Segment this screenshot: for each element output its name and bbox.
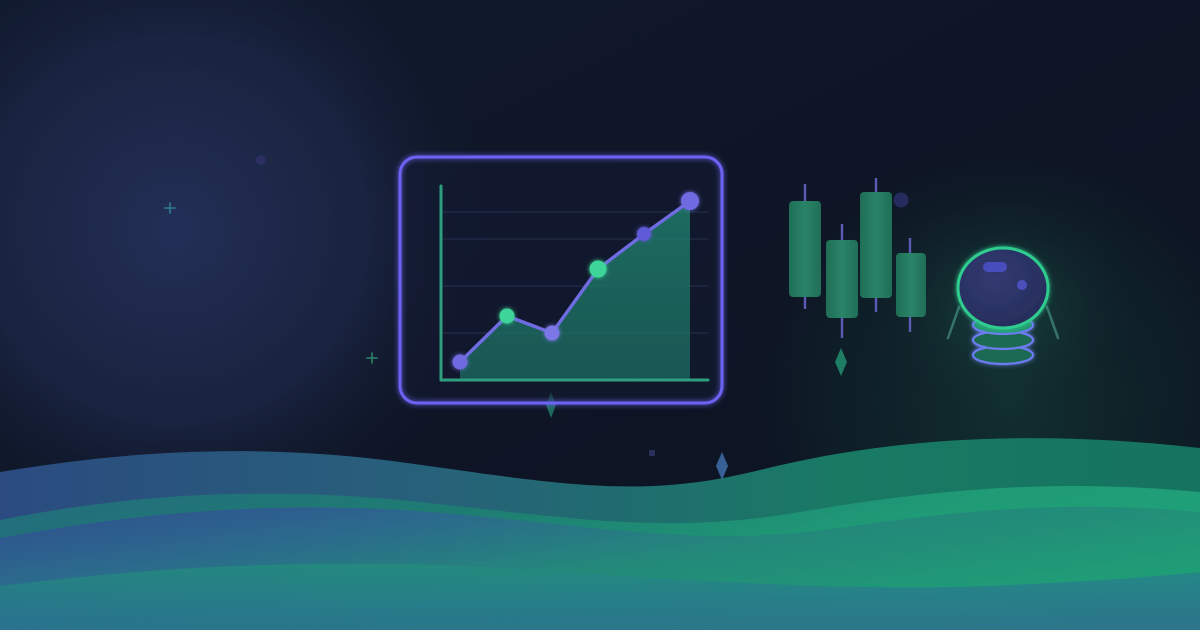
lamp-highlight-pill	[983, 262, 1007, 272]
hero-illustration-canvas: Trading analytics hero illustration Dark…	[0, 0, 1200, 630]
lamp-leg-left	[948, 307, 959, 338]
lamp-globe[interactable]	[958, 248, 1048, 328]
lamp-highlight-dot	[1017, 280, 1027, 290]
crystal-ball-lamp[interactable]	[0, 0, 1200, 630]
lamp-leg-right	[1047, 307, 1058, 338]
